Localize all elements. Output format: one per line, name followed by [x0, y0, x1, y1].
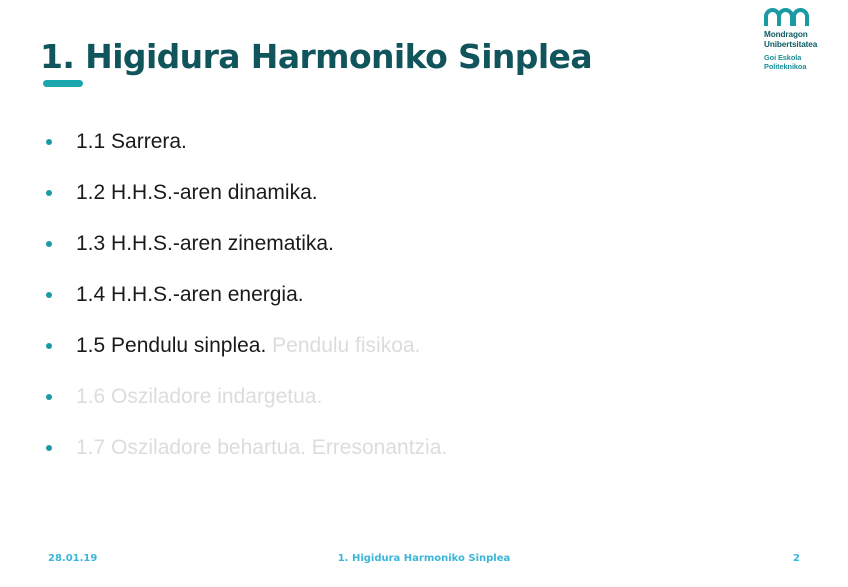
bullet-dot-icon	[46, 241, 52, 247]
list-item-label-group: 1.5 Pendulu sinplea. Pendulu fisikoa.	[76, 332, 420, 360]
list-item-label: 1.7 Osziladore behartua. Erresonantzia.	[76, 434, 447, 462]
slide-canvas: Mondragon Unibertsitatea Goi Eskola Poli…	[0, 0, 848, 587]
logo-name: Mondragon Unibertsitatea	[764, 30, 842, 49]
list-item: 1.2 H.H.S.-aren dinamika.	[40, 179, 800, 230]
agenda-list: 1.1 Sarrera. 1.2 H.H.S.-aren dinamika. 1…	[40, 128, 800, 485]
list-item-label: 1.4 H.H.S.-aren energia.	[76, 281, 304, 309]
title-block: 1. Higidura Harmoniko Sinplea	[40, 38, 592, 76]
list-item: 1.6 Osziladore indargetua.	[40, 383, 800, 434]
logo-name-line1: Mondragon	[764, 30, 842, 40]
list-item-label-dim-suffix: Pendulu fisikoa.	[266, 334, 420, 357]
list-item-label: 1.2 H.H.S.-aren dinamika.	[76, 179, 318, 207]
slide-footer: 28.01.19 1. Higidura Harmoniko Sinplea 2	[0, 553, 848, 573]
bullet-dot-icon	[46, 190, 52, 196]
list-item: 1.4 H.H.S.-aren energia.	[40, 281, 800, 332]
logo-name-line2: Unibertsitatea	[764, 40, 842, 50]
bullet-dot-icon	[46, 445, 52, 451]
list-item-label: 1.1 Sarrera.	[76, 128, 187, 156]
list-item: 1.1 Sarrera.	[40, 128, 800, 179]
list-item-label: 1.6 Osziladore indargetua.	[76, 383, 322, 411]
footer-title: 1. Higidura Harmoniko Sinplea	[0, 553, 848, 564]
logo-sub-line2: Politeknikoa	[764, 62, 842, 71]
bullet-dot-icon	[46, 343, 52, 349]
institution-logo: Mondragon Unibertsitatea Goi Eskola Poli…	[764, 8, 842, 71]
list-item: 1.5 Pendulu sinplea. Pendulu fisikoa.	[40, 332, 800, 383]
logo-subtitle: Goi Eskola Politeknikoa	[764, 53, 842, 71]
list-item: 1.3 H.H.S.-aren zinematika.	[40, 230, 800, 281]
bullet-dot-icon	[46, 394, 52, 400]
title-underline-accent	[43, 80, 83, 87]
list-item: 1.7 Osziladore behartua. Erresonantzia.	[40, 434, 800, 485]
list-item-label: 1.3 H.H.S.-aren zinematika.	[76, 230, 334, 258]
page-title: 1. Higidura Harmoniko Sinplea	[40, 38, 592, 76]
logo-sub-line1: Goi Eskola	[764, 53, 842, 62]
bullet-dot-icon	[46, 139, 52, 145]
footer-page-number: 2	[793, 553, 800, 564]
list-item-label: 1.5 Pendulu sinplea.	[76, 334, 266, 357]
bullet-dot-icon	[46, 292, 52, 298]
mondragon-wave-mark-icon	[764, 8, 810, 27]
